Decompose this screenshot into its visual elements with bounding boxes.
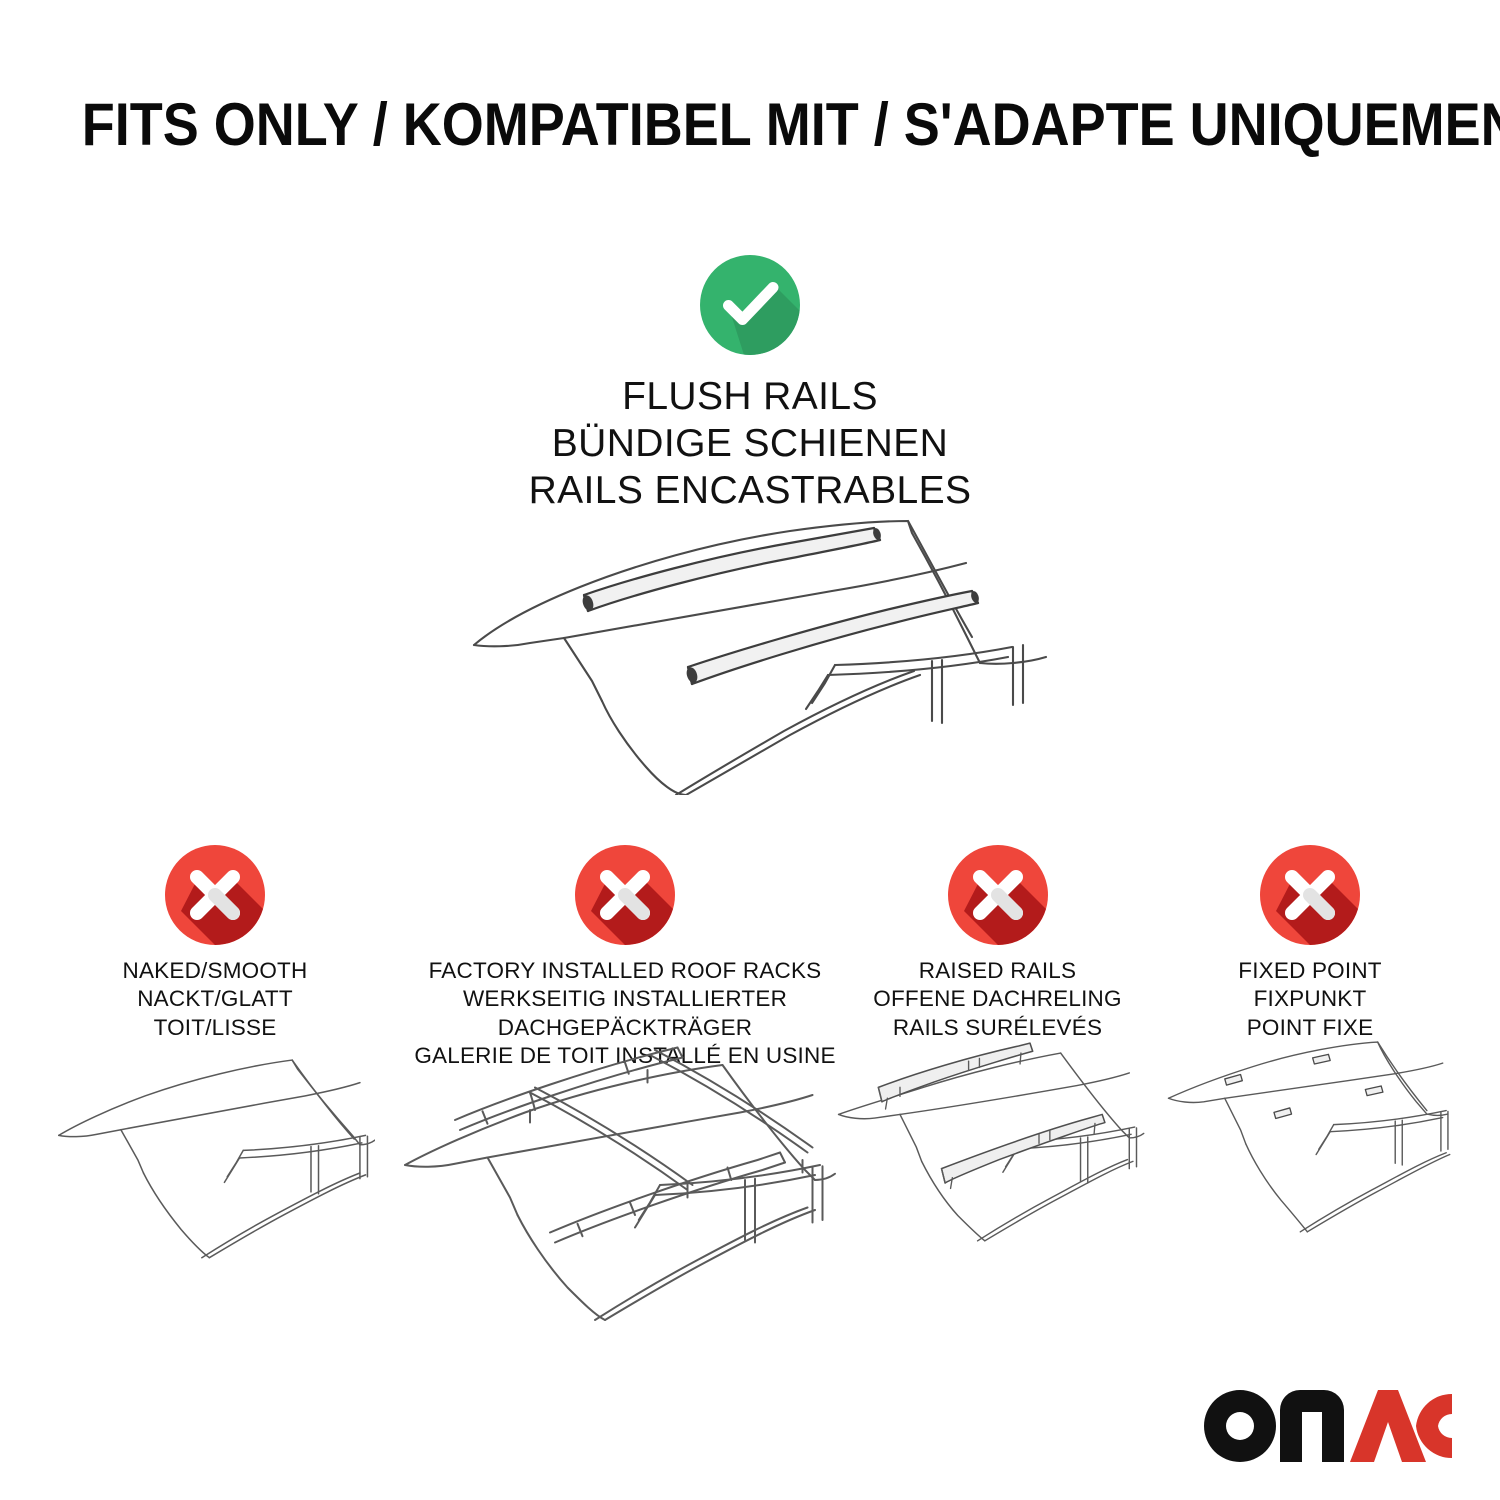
x-circle-icon (1260, 845, 1360, 945)
label-de: NACKT/GLATT (55, 985, 375, 1013)
x-circle-icon (165, 845, 265, 945)
x-circle-icon (575, 845, 675, 945)
x-circle-icon (948, 845, 1048, 945)
label-en: RAISED RAILS (835, 957, 1160, 985)
roof-factory-racks-illustration (400, 1035, 850, 1328)
badge-wrap (835, 845, 1160, 945)
label-en: FACTORY INSTALLED ROOF RACKS (400, 957, 850, 985)
incompatible-item-fixed-point: FIXED POINT FIXPUNKT POINT FIXE (1165, 845, 1455, 1042)
roof-flush-rails-illustration (460, 495, 1060, 795)
incompatible-item-factory-racks: FACTORY INSTALLED ROOF RACKS WERKSEITIG … (400, 845, 850, 1070)
page-title: FITS ONLY / KOMPATIBEL MIT / S'ADAPTE UN… (82, 95, 1500, 155)
compatible-label-en: FLUSH RAILS (0, 374, 1500, 421)
check-circle-icon (700, 255, 800, 355)
incompatible-label-group: NAKED/SMOOTH NACKT/GLATT TOIT/LISSE (55, 957, 375, 1042)
badge-wrap (55, 845, 375, 945)
header: FITS ONLY / KOMPATIBEL MIT / S'ADAPTE UN… (0, 95, 1500, 155)
incompatible-item-naked-smooth: NAKED/SMOOTH NACKT/GLATT TOIT/LISSE (55, 845, 375, 1042)
label-de: OFFENE DACHRELING (835, 985, 1160, 1013)
badge-wrap (1165, 845, 1455, 945)
omac-logo: OMAC (1202, 1388, 1452, 1462)
incompatible-label-group: FIXED POINT FIXPUNKT POINT FIXE (1165, 957, 1455, 1042)
incompatible-item-raised-rails: RAISED RAILS OFFENE DACHRELING RAILS SUR… (835, 845, 1160, 1042)
badge-wrap (400, 845, 850, 945)
label-de: FIXPUNKT (1165, 985, 1455, 1013)
label-fr: TOIT/LISSE (55, 1014, 375, 1042)
infographic-canvas: FITS ONLY / KOMPATIBEL MIT / S'ADAPTE UN… (0, 0, 1500, 1500)
label-de-1: WERKSEITIG INSTALLIERTER (400, 985, 850, 1013)
compatible-section: FLUSH RAILS BÜNDIGE SCHIENEN RAILS ENCAS… (0, 255, 1500, 514)
roof-raised-rails-illustration (835, 1035, 1160, 1248)
incompatible-section: NAKED/SMOOTH NACKT/GLATT TOIT/LISSE (0, 845, 1500, 1315)
incompatible-label-group: RAISED RAILS OFFENE DACHRELING RAILS SUR… (835, 957, 1160, 1042)
roof-naked-smooth-illustration (55, 1045, 375, 1266)
label-en: FIXED POINT (1165, 957, 1455, 985)
label-en: NAKED/SMOOTH (55, 957, 375, 985)
roof-fixed-point-illustration (1165, 1035, 1455, 1242)
compatible-label-group: FLUSH RAILS BÜNDIGE SCHIENEN RAILS ENCAS… (0, 374, 1500, 514)
compatible-label-de: BÜNDIGE SCHIENEN (0, 421, 1500, 468)
